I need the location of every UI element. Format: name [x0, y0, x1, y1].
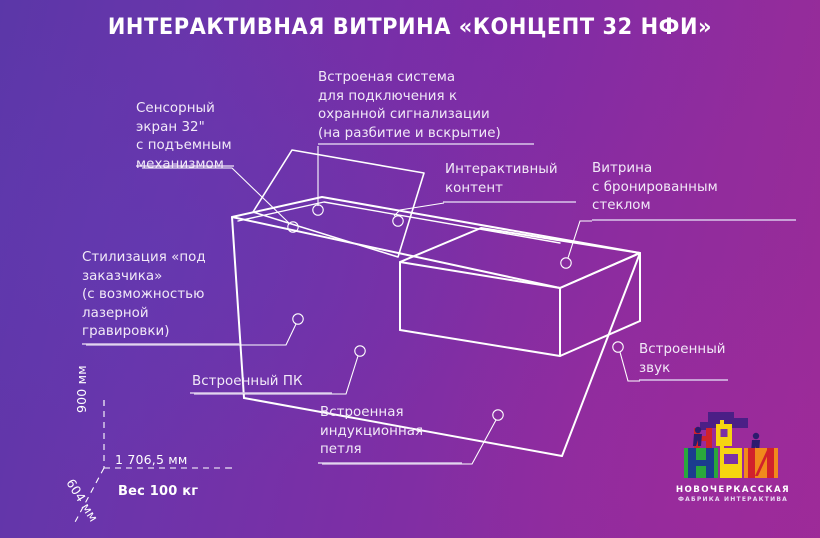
dimension-width-label: 1 706,5 мм	[115, 452, 188, 467]
armored-glass-box	[400, 228, 640, 356]
callout-touch-screen: Сенсорный экран 32" с подъемным механизм…	[136, 100, 232, 174]
cabinet-outline	[232, 197, 640, 456]
callout-custom-styling: Стилизация «под заказчика» (с возможност…	[82, 249, 206, 342]
leader-armored-glass	[561, 220, 796, 268]
callout-induction-loop: Встроенная индукционная петля	[320, 404, 423, 460]
logo-company-name: НОВОЧЕРКАССКАЯ	[676, 484, 791, 495]
logo-letter-i	[744, 448, 778, 478]
callout-built-in-pc: Встроенный ПК	[192, 373, 303, 392]
company-logo[interactable]: НОВОЧЕРКАССКАЯ ФАБРИКА ИНТЕРАКТИВА	[672, 410, 794, 510]
leader-touch-screen	[136, 166, 298, 232]
callout-built-in-sound: Встроенный звук	[639, 341, 726, 378]
infographic-page: ИНТЕРАКТИВНАЯ ВИТРИНА «КОНЦЕПТ 32 НФИ»	[0, 0, 820, 538]
logo-mark-icon	[672, 410, 794, 482]
logo-letter-n	[684, 448, 718, 478]
dimension-height-label: 900 мм	[74, 365, 89, 413]
callout-alarm-system: Встроеная система для подключения к охра…	[318, 69, 501, 143]
weight-label: Вес 100 кг	[118, 484, 198, 499]
page-title: ИНТЕРАКТИВНАЯ ВИТРИНА «КОНЦЕПТ 32 НФИ»	[29, 14, 792, 40]
logo-letter-f	[716, 420, 732, 450]
callout-interactive-content: Интерактивный контент	[445, 161, 558, 198]
callout-armored-glass: Витрина с бронированным стеклом	[592, 160, 718, 216]
logo-company-subtitle: ФАБРИКА ИНТЕРАКТИВА	[676, 495, 791, 503]
